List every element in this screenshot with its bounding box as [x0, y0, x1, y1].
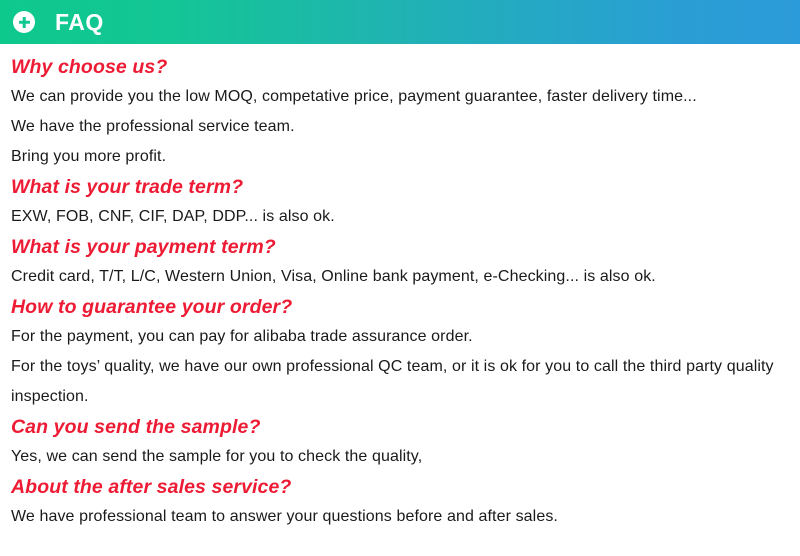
faq-answer: Bring you more profit.	[11, 142, 790, 172]
faq-header-bar: FAQ	[0, 0, 800, 44]
faq-item: Can you send the sample? Yes, we can sen…	[11, 412, 790, 472]
faq-question: How to guarantee your order?	[11, 292, 790, 322]
faq-question: What is your payment term?	[11, 232, 790, 262]
faq-item: Why choose us? We can provide you the lo…	[11, 44, 790, 172]
page-title: FAQ	[55, 11, 104, 34]
faq-answer: For the payment, you can pay for alibaba…	[11, 322, 790, 352]
faq-answer: We have the professional service team.	[11, 112, 790, 142]
faq-answer: Yes, we can send the sample for you to c…	[11, 442, 790, 472]
faq-answer: EXW, FOB, CNF, CIF, DAP, DDP... is also …	[11, 202, 790, 232]
faq-answer: Credit card, T/T, L/C, Western Union, Vi…	[11, 262, 790, 292]
faq-question: About the after sales service?	[11, 472, 790, 502]
faq-item: About the after sales service? We have p…	[11, 472, 790, 532]
plus-circle-icon[interactable]	[13, 11, 35, 33]
faq-item: What is your payment term? Credit card, …	[11, 232, 790, 292]
faq-item: How to guarantee your order? For the pay…	[11, 292, 790, 412]
faq-content: Why choose us? We can provide you the lo…	[0, 44, 800, 532]
faq-answer: We have professional team to answer your…	[11, 502, 790, 532]
faq-question: Why choose us?	[11, 44, 790, 82]
faq-question: Can you send the sample?	[11, 412, 790, 442]
faq-answer: We can provide you the low MOQ, competat…	[11, 82, 790, 112]
faq-page: FAQ Why choose us? We can provide you th…	[0, 0, 800, 556]
faq-question: What is your trade term?	[11, 172, 790, 202]
faq-answer: For the toys’ quality, we have our own p…	[11, 352, 790, 412]
faq-item: What is your trade term? EXW, FOB, CNF, …	[11, 172, 790, 232]
